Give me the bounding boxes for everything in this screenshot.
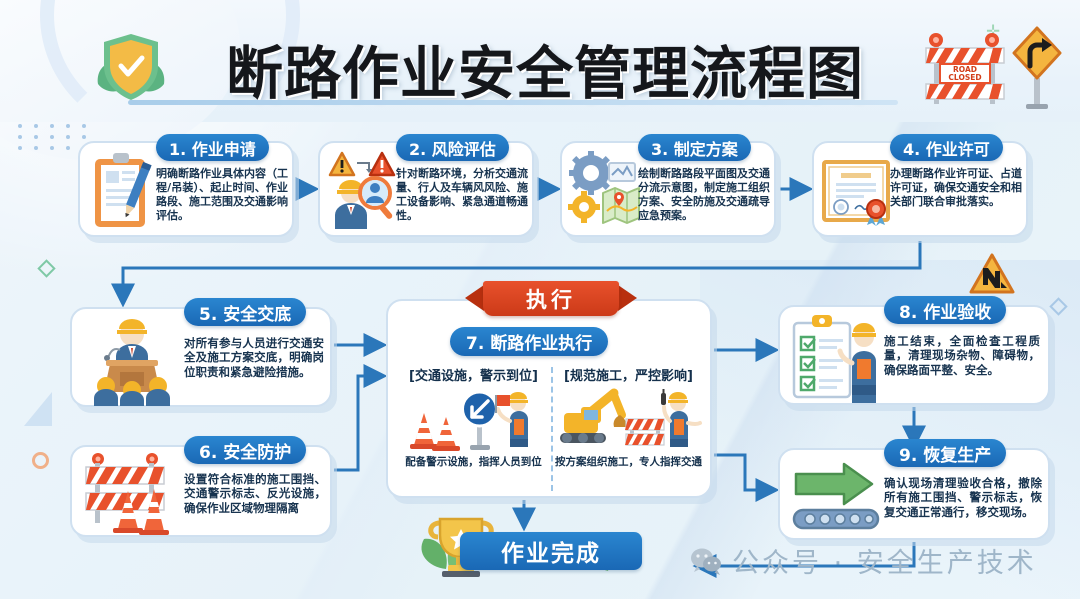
dot-grid-icon — [18, 124, 91, 150]
wechat-icon — [690, 547, 724, 575]
excavator-barrier-worker-icon — [556, 389, 702, 451]
step-5-pill: 5. 安全交底 — [184, 298, 306, 326]
execution-ribbon: 执行 — [465, 281, 637, 321]
step-6-body: 设置符合标准的施工围挡、交通警示标志、反光设施，确保作业区域物理隔离 — [184, 472, 326, 515]
title-underline — [128, 100, 898, 105]
step-card-1[interactable]: 1. 作业申请 明确断路作业具体内容（工程/吊装）、起止时间、作业路段、施工范围… — [78, 141, 294, 237]
step-card-9[interactable]: 9. 恢复生产 确认现场清理验收合格，撤除所有施工围挡、警示标志，恢复交通正常通… — [778, 448, 1050, 540]
road-closed-sign-group: ROAD CLOSED — [920, 24, 1065, 106]
ribbon-tail-left — [465, 285, 484, 311]
execution-column-right: [规范施工，严控影响] — [551, 365, 706, 493]
shield-check-icon — [92, 32, 170, 104]
step-card-5[interactable]: 5. 安全交底 对所有参与人员进行交通安全及施工方案交底，明确岗位职责和紧急避险… — [70, 307, 332, 407]
finish-banner[interactable]: 作业完成 — [404, 529, 644, 573]
detour-warning-sign-icon — [968, 252, 1016, 296]
step-1-body: 明确断路作业具体内容（工程/吊装）、起止时间、作业路段、施工范围及交通影响评估。 — [156, 167, 288, 222]
infographic-canvas: ✛ 断路作业安全管理流程图 — [0, 0, 1080, 599]
turn-right-sign-icon — [1014, 28, 1060, 109]
barrier-cone-icon — [78, 451, 186, 535]
step-5-body: 对所有参与人员进行交通安全及施工方案交底，明确岗位职责和紧急避险措施。 — [184, 336, 324, 379]
page-header: 断路作业安全管理流程图 — [0, 0, 1080, 120]
watermark-text: 公众号 · 安全生产技术 — [732, 541, 1037, 580]
finish-label: 作业完成 — [460, 532, 642, 570]
step-7-pill: 7. 断路作业执行 — [450, 327, 608, 356]
green-arrow-conveyor-icon — [790, 462, 882, 532]
execution-panel[interactable]: 执行 7. 断路作业执行 [交通设施，警示到位] — [386, 299, 712, 498]
execution-columns: [交通设施，警示到位] — [396, 365, 706, 493]
step-8-body: 施工结束，全面检查工程质量，清理现场杂物、障碍物，确保路面平整、安全。 — [884, 334, 1040, 377]
step-card-4[interactable]: 4. 作业许可 办理断路作业许可证、占道许可证，确保交通安全和相关部门联合审批落… — [812, 141, 1028, 237]
step-card-6[interactable]: 6. 安全防护 设置符合标准的施工围挡、交通警示标志、反光设施，确保作业区域物理… — [70, 445, 332, 537]
step-3-body: 绘制断路路段平面图及交通分流示意图，制定施工组织方案、安全防施及交通疏导应急预案… — [638, 167, 770, 222]
execution-left-subtitle: [交通设施，警示到位] — [409, 365, 538, 384]
step-card-8[interactable]: 8. 作业验收 施工结束，全面检查工程质量，清理现场杂物、障碍物，确保路面平整、… — [778, 305, 1050, 405]
step-4-pill: 4. 作业许可 — [890, 134, 1003, 161]
step-8-pill: 8. 作业验收 — [884, 296, 1006, 324]
ribbon-tail-right — [618, 285, 637, 311]
road-closed-barricade-icon: ROAD CLOSED — [926, 33, 1004, 104]
step-card-2[interactable]: 2. 风险评估 针对断路环境，分析交通流量、行人及车辆风风险、施工设备影响、紧急… — [318, 141, 534, 237]
cones-detour-sign-flagger-icon — [404, 389, 544, 451]
step-3-pill: 3. 制定方案 — [638, 134, 751, 161]
page-title: 断路作业安全管理流程图 — [200, 28, 890, 110]
ribbon-label: 执行 — [483, 281, 619, 316]
podium-briefing-icon — [80, 314, 184, 406]
step-2-body: 针对断路环境，分析交通流量、行人及车辆风风险、施工设备影响、紧急通道畅通性。 — [396, 167, 528, 222]
step-1-pill: 1. 作业申请 — [156, 134, 269, 161]
step-2-pill: 2. 风险评估 — [396, 134, 509, 161]
clipboard-pen-icon — [87, 149, 157, 233]
triangle-icon — [24, 392, 52, 426]
step-card-3[interactable]: 3. 制定方案 绘制断路路段平面图及交通分流示意图，制定施工组织方案、安全防施及… — [560, 141, 776, 237]
step-6-pill: 6. 安全防护 — [184, 436, 306, 464]
gears-map-icon — [569, 149, 639, 233]
step-9-pill: 9. 恢复生产 — [884, 439, 1006, 467]
certificate-icon — [821, 149, 891, 233]
execution-column-left: [交通设施，警示到位] — [396, 365, 551, 493]
execution-right-caption: 按方案组织施工，专人指挥交通 — [555, 454, 702, 469]
step-9-body: 确认现场清理验收合格，撤除所有施工围挡、警示标志，恢复交通正常通行，移交现场。 — [884, 476, 1042, 519]
execution-right-subtitle: [规范施工，严控影响] — [564, 365, 693, 384]
watermark: 公众号 · 安全生产技术 — [690, 541, 1037, 580]
svg-text:CLOSED: CLOSED — [948, 73, 981, 82]
ring-outline-icon — [32, 452, 49, 469]
step-4-body: 办理断路作业许可证、占道许可证，确保交通安全和相关部门联合审批落实。 — [890, 167, 1022, 209]
execution-left-caption: 配备警示设施，指挥人员到位 — [405, 454, 542, 469]
checklist-inspector-icon — [788, 311, 886, 405]
inspector-magnifier-icon — [327, 149, 397, 233]
